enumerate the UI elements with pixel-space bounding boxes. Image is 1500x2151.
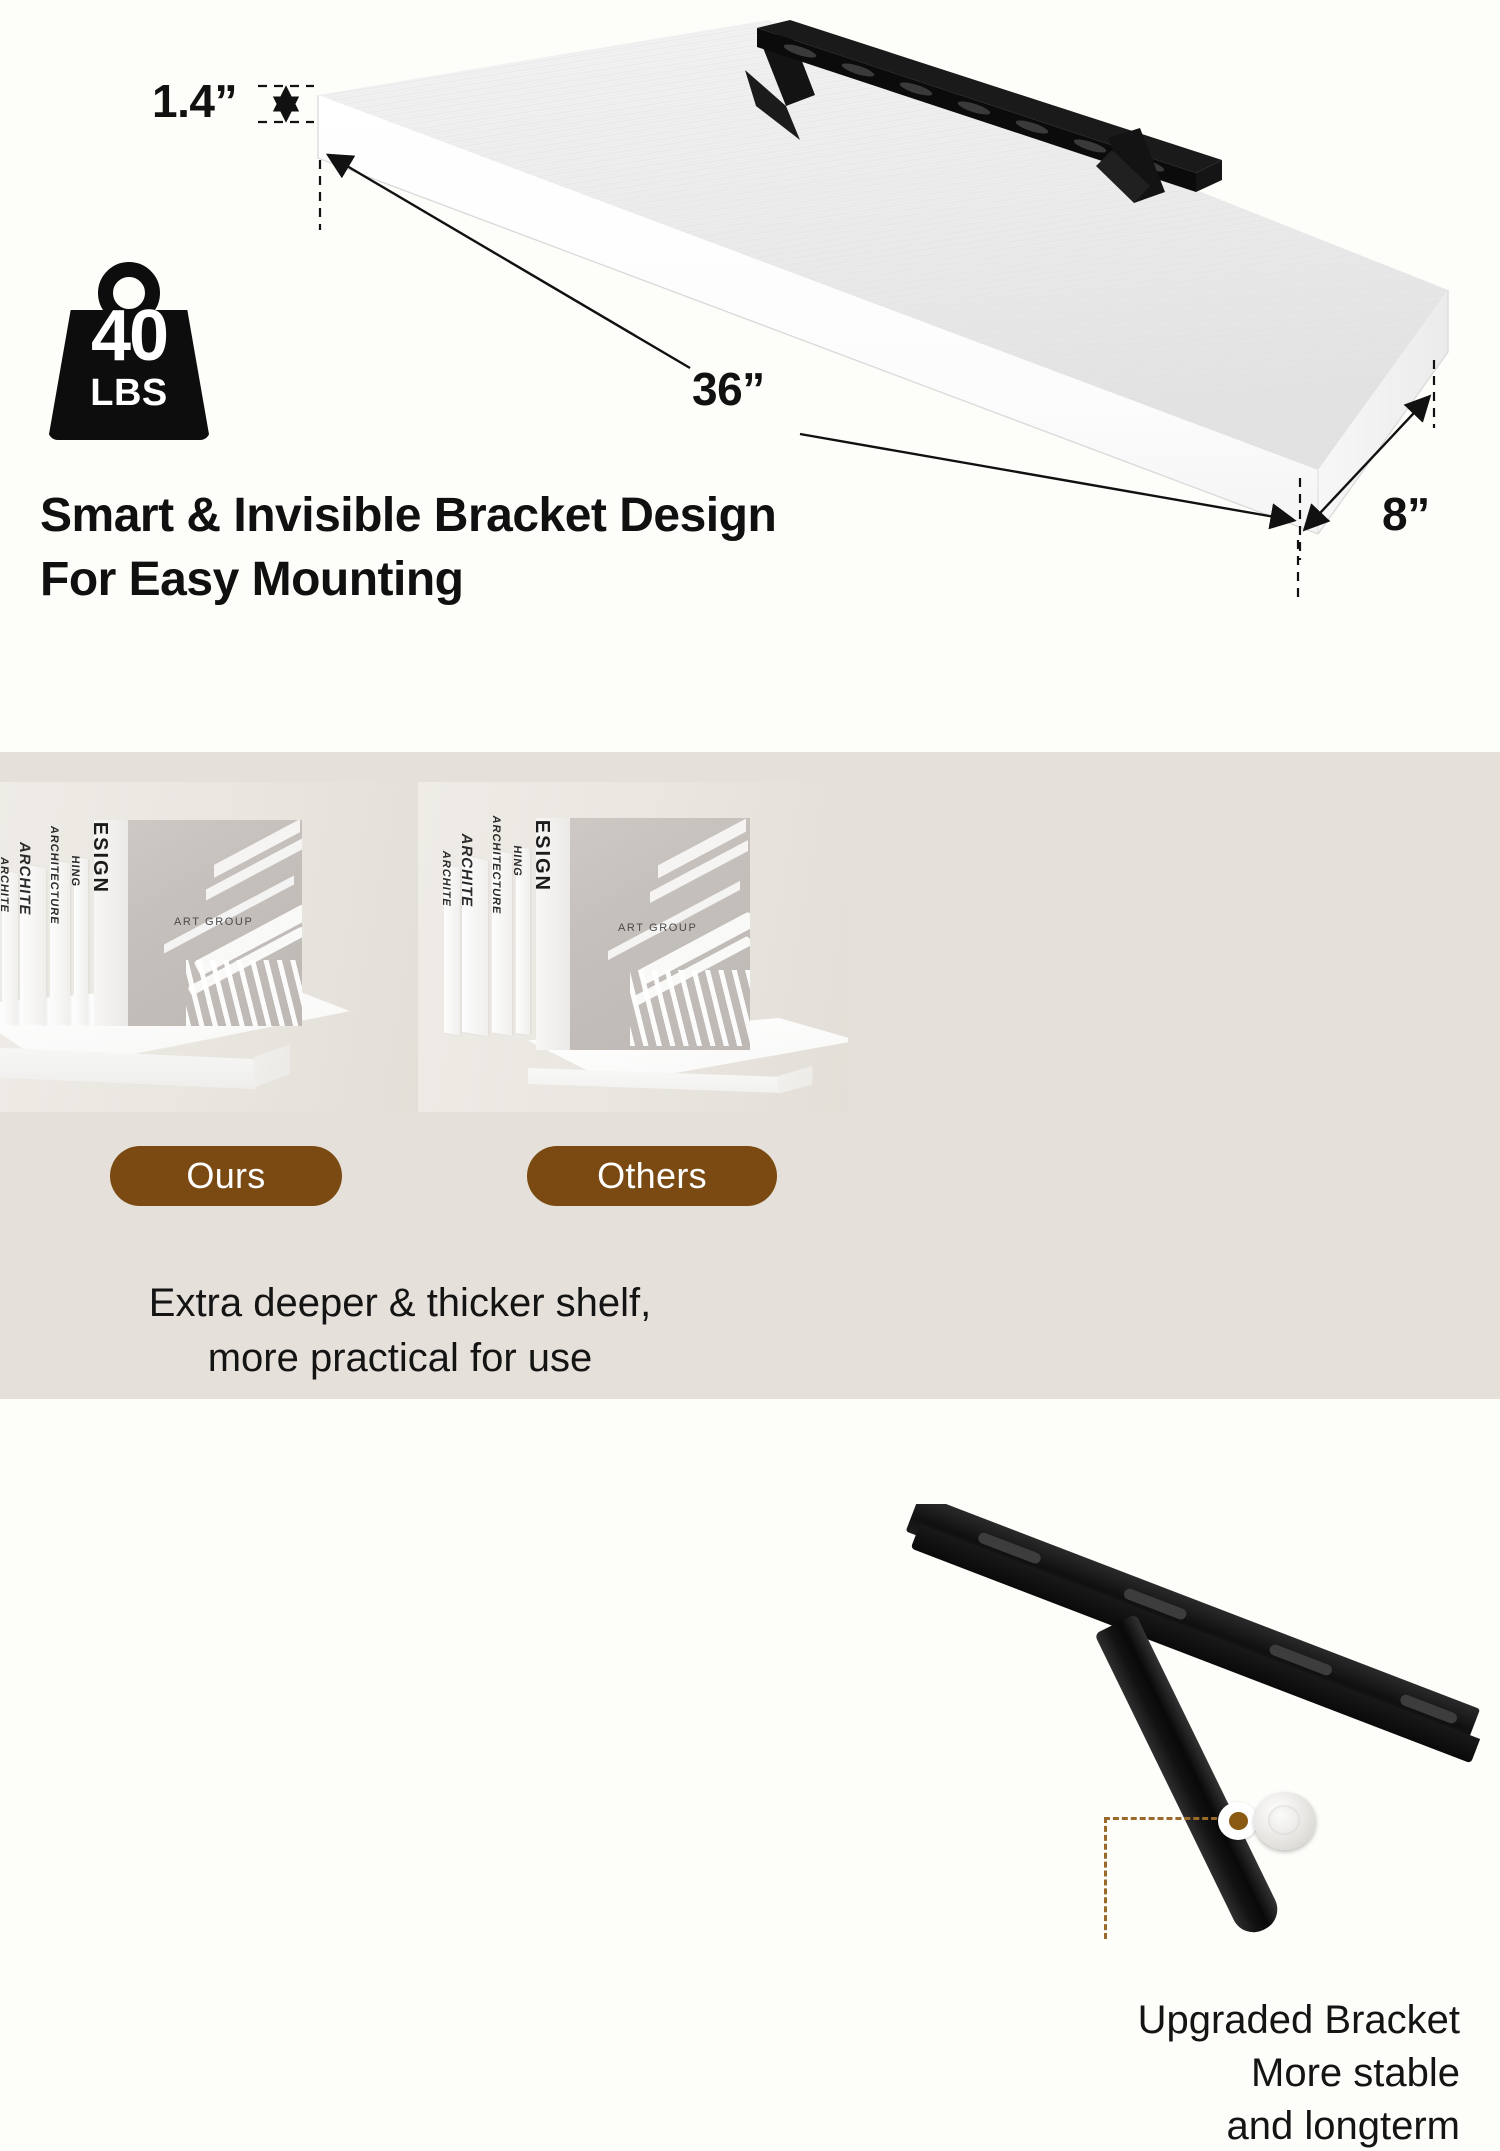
book-spine-label: ARCHITE bbox=[0, 856, 10, 914]
book-spine-label: ARCHITE bbox=[16, 841, 33, 917]
others-cover-book: RE DESIGN ART GROUP bbox=[536, 818, 750, 1050]
dimension-depth-label: 8” bbox=[1382, 487, 1430, 541]
comparison-caption: Extra deeper & thicker shelf, more pract… bbox=[0, 1276, 800, 1386]
headline-line-1: Smart & Invisible Bracket Design bbox=[40, 489, 776, 542]
book: HING bbox=[516, 847, 530, 1035]
shelf-board bbox=[318, 20, 1448, 534]
dimension-thickness-label: 1.4” bbox=[152, 74, 237, 128]
book-spine-label: RE DESIGN bbox=[536, 818, 553, 892]
bracket-screw-cap bbox=[1254, 1792, 1316, 1850]
book-spine-label: ARCHITECTURE bbox=[48, 825, 60, 925]
stair-balusters bbox=[630, 970, 750, 1046]
book-spine: RE DESIGN bbox=[94, 820, 128, 1026]
book-spine-label: HING bbox=[69, 855, 81, 888]
book: ARCHITECTURE bbox=[492, 850, 512, 1035]
photo-ours: ARCHITE ARCHITE ARCHITECTURE HING RE DES… bbox=[0, 782, 420, 1112]
dimension-length-label: 36” bbox=[692, 362, 765, 416]
product-dimension-section: 1.4” 36” 8” 40 LBS Smart & Invisible Bra… bbox=[0, 0, 1500, 752]
bracket-detail-panel: Upgraded Bracket More stable and longter… bbox=[860, 1504, 1500, 2151]
book-spine-label: ARCHITECTURE bbox=[490, 815, 502, 916]
badge-ours: Ours bbox=[110, 1146, 342, 1206]
photo-others: ARCHITE ARCHITE ARCHITECTURE HING RE DES… bbox=[418, 782, 848, 1112]
book-cover-label: ART GROUP bbox=[174, 916, 253, 928]
weight-unit: LBS bbox=[48, 374, 210, 412]
book: ARCHITECTURE bbox=[50, 861, 70, 1025]
stair-element bbox=[608, 881, 740, 960]
book: ARCHITE bbox=[462, 856, 488, 1037]
bracket-marker-dot bbox=[1218, 1802, 1258, 1840]
bracket-caption-line-3: and longterm bbox=[900, 2100, 1460, 2151]
headline: Smart & Invisible Bracket Design For Eas… bbox=[40, 484, 940, 612]
weight-value: 40 bbox=[48, 300, 210, 372]
comparison-caption-line-1: Extra deeper & thicker shelf, bbox=[149, 1281, 651, 1325]
comparison-caption-line-2: more practical for use bbox=[0, 1331, 800, 1386]
book-spine: RE DESIGN bbox=[536, 818, 570, 1050]
ours-cover-book: RE DESIGN ART GROUP bbox=[94, 820, 302, 1026]
bracket-caption: Upgraded Bracket More stable and longter… bbox=[900, 1994, 1460, 2151]
bracket-bar-underside bbox=[911, 1524, 1480, 1763]
dimension-thickness bbox=[258, 86, 314, 122]
book-spine-label: HING bbox=[511, 845, 523, 878]
callout-line-vertical bbox=[1104, 1817, 1107, 1939]
book-spine-label: RE DESIGN bbox=[94, 820, 111, 894]
book-cover-label: ART GROUP bbox=[618, 922, 697, 934]
book: HING bbox=[74, 857, 88, 1024]
badge-others: Others bbox=[527, 1146, 777, 1206]
bracket-caption-line-2: More stable bbox=[900, 2047, 1460, 2100]
headline-line-2: For Easy Mounting bbox=[40, 548, 940, 612]
book-spine-label: ARCHITE bbox=[440, 850, 452, 908]
book-spine-label: ARCHITE bbox=[458, 832, 475, 909]
callout-line-horizontal bbox=[1104, 1817, 1226, 1820]
book: ARCHITE bbox=[20, 864, 46, 1026]
weight-capacity-icon: 40 LBS bbox=[48, 262, 210, 440]
bracket-caption-line-1: Upgraded Bracket bbox=[900, 1994, 1460, 2047]
stair-balusters bbox=[186, 960, 302, 1026]
